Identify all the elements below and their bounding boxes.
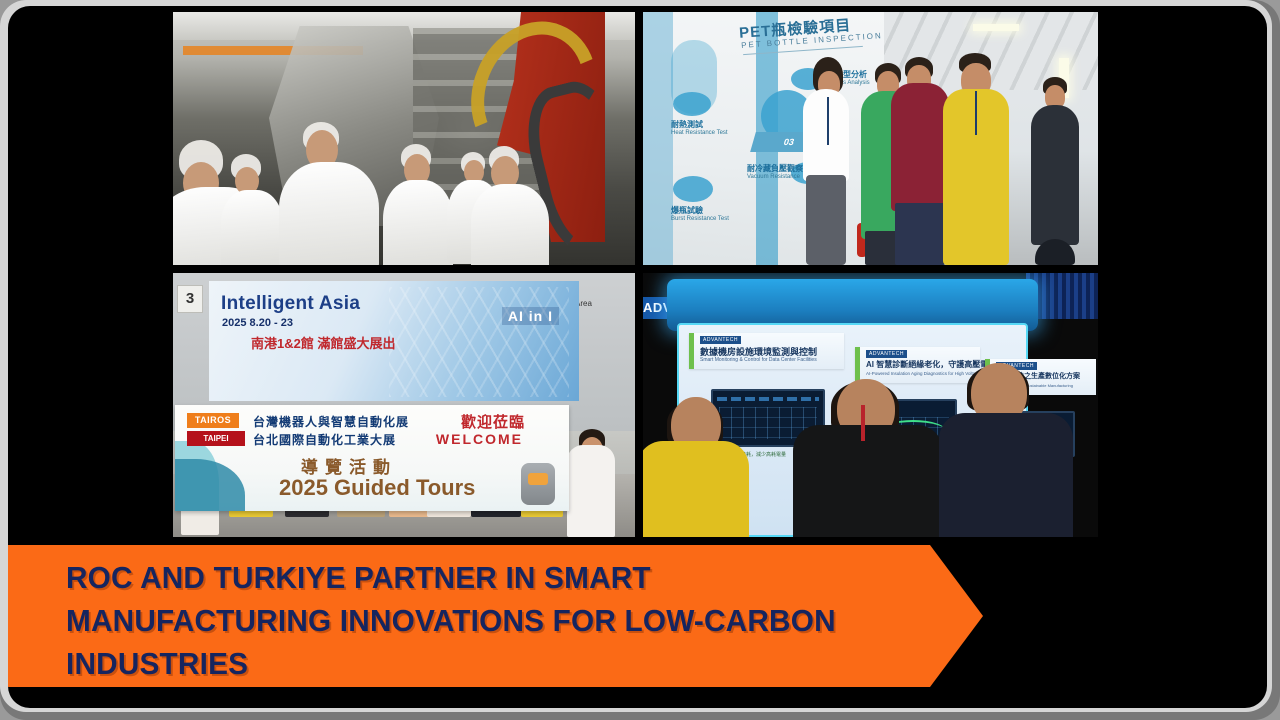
item-title-en: Burst Resistance Test	[671, 216, 729, 222]
photo-advantech-booth: ADVANTECH ADVANTECH 數據機房設施環境監測與控制 Smart …	[643, 273, 1098, 537]
lab-coat	[221, 190, 283, 265]
area-direction-sign: Area	[575, 299, 631, 325]
inspection-item: 爆瓶試驗 Burst Resistance Test	[671, 206, 735, 224]
body	[939, 413, 1073, 537]
backdrop-venue-cn: 南港1&2館 滿館盛大展出	[251, 333, 395, 352]
photo-guided-tours-group: 3 Area Intelligent Asia 2025 8.20 - 23 南…	[173, 273, 635, 537]
tairos-logo: TAIROS	[187, 413, 239, 428]
guided-tours-banner: TAIROS TAIPEI 台灣機器人與智慧自動化展 台北國際自動化工業大展 歡…	[175, 405, 569, 511]
item-title-en: Vacuum Resistance	[747, 174, 800, 180]
lab-coat	[279, 162, 379, 265]
body	[567, 445, 615, 537]
backdrop-dates: 2025 8.20 - 23	[222, 317, 293, 329]
panel-brand-tag: ADVANTECH	[866, 350, 907, 358]
body	[643, 441, 749, 537]
banner-line1-cn: 台灣機器人與智慧自動化展	[253, 413, 409, 430]
solution-panel-header: ADVANTECH AI 智慧診斷絕緣老化，守護高壓電力安全 AI-Powere…	[855, 347, 980, 383]
intelligent-asia-backdrop: Intelligent Asia 2025 8.20 - 23 南港1&2館 滿…	[209, 281, 579, 401]
ceiling-lamp	[973, 24, 1019, 31]
graphic-stage: PET瓶檢驗項目 PET BOTTLE INSPECTION 耐熱測試 Heat…	[8, 6, 1267, 708]
welcome-en: WELCOME	[436, 431, 523, 447]
inspection-item: 耐熱測試 Heat Resistance Test	[671, 120, 735, 138]
headline-text: ROC AND TURKIYE PARTNER IN SMART MANUFAC…	[66, 556, 911, 685]
robot-mascot	[521, 463, 555, 505]
item-title-cn: 爆瓶試驗	[671, 206, 735, 216]
item-title-cn: 耐熱測試	[671, 120, 735, 130]
lab-coat	[471, 184, 549, 265]
lanyard	[827, 97, 829, 145]
solution-panel-header: ADVANTECH 數據機房設施環境監測與控制 Smart Monitoring…	[689, 333, 844, 369]
gate-number-sign: 3	[177, 285, 203, 313]
torso	[803, 89, 849, 181]
legs	[895, 203, 945, 265]
ai-in-i-logo: AI in I	[502, 307, 559, 325]
body	[793, 425, 943, 537]
photo-collage-grid: PET瓶檢驗項目 PET BOTTLE INSPECTION 耐熱測試 Heat…	[173, 12, 1106, 541]
backdrop-title: Intelligent Asia	[221, 293, 360, 315]
legs	[806, 175, 846, 265]
welcome-cn: 歡迎莅臨	[461, 411, 525, 432]
event-title-en: 2025 Guided Tours	[279, 475, 475, 501]
item-title-cn: 耐冷藏負壓觀察	[747, 164, 811, 174]
banner-wave	[175, 459, 245, 511]
icon-bubble	[673, 176, 713, 202]
taipei-logo: TAIPEI	[187, 431, 245, 446]
item-title-en: Heat Resistance Test	[671, 130, 728, 136]
banner-line2-cn: 台北國際自動化工業大展	[253, 431, 396, 448]
inspection-item: 耐冷藏負壓觀察 Vacuum Resistance	[747, 164, 811, 182]
lanyard	[975, 91, 977, 135]
board-accent-stripe	[643, 12, 673, 265]
lanyard	[861, 405, 865, 441]
panel-title-en: Smart Monitoring & Control for Data Cent…	[700, 357, 817, 363]
torso	[1031, 105, 1079, 245]
hex-pattern	[389, 287, 569, 397]
panel-brand-tag: ADVANTECH	[700, 336, 741, 344]
lab-coat	[383, 180, 453, 265]
photo-factory-robot-tour	[173, 12, 635, 265]
screen-header-row	[717, 397, 819, 401]
icon-bubble	[673, 92, 711, 116]
torso	[891, 83, 949, 211]
photo-pet-bottle-inspection: PET瓶檢驗項目 PET BOTTLE INSPECTION 耐熱測試 Heat…	[643, 12, 1098, 265]
